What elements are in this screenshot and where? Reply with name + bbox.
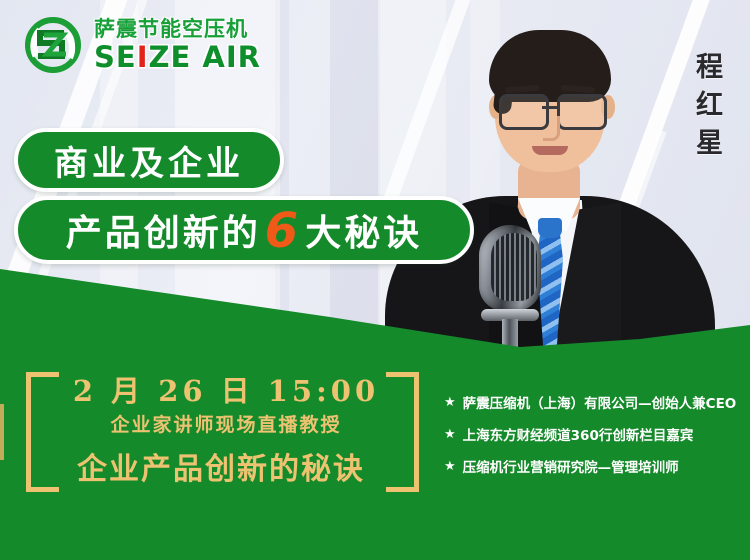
credential-item: ★ 上海东方财经频道360行创新栏目嘉宾 (444, 424, 744, 444)
brand-logo: 萨震节能空压机 SE I ZE AIR (22, 16, 261, 74)
speaker-nose (543, 116, 560, 141)
poster-canvas: 萨震节能空压机 SE I ZE AIR 程红星 商业及企业 产品创新的 6 大秘… (0, 0, 750, 560)
headline-line2-suffix: 大秘诀 (305, 204, 422, 256)
star-icon: ★ (444, 428, 456, 441)
eyeglasses-lens-left (499, 94, 549, 130)
credential-item: ★ 压缩机行业营销研究院—管理培训师 (444, 456, 744, 476)
microphone-grill (491, 233, 537, 301)
credential-item: ★ 萨震压缩机（上海）有限公司—创始人兼CEO (444, 392, 744, 412)
speaker-name-vertical: 程红星 (682, 52, 726, 166)
headline-line2-prefix: 产品创新的 (66, 204, 261, 256)
headline-number-six: 6 (261, 207, 305, 255)
credential-text: 上海东方财经频道360行创新栏目嘉宾 (463, 424, 694, 444)
event-datetime: 2 月 26 日 15:00 (66, 368, 386, 410)
brand-name-en-part2: ZE AIR (149, 43, 262, 72)
eyeglasses-bridge (542, 106, 558, 109)
speaker-mouth (532, 146, 568, 155)
brand-name-en-accent: I (137, 43, 149, 72)
credential-text: 萨震压缩机（上海）有限公司—创始人兼CEO (463, 392, 737, 412)
brand-name-cn: 萨震节能空压机 (94, 19, 261, 40)
microphone-head (479, 225, 541, 311)
event-subtitle: 企业家讲师现场直播教授 (66, 410, 386, 437)
headline-badge-line2: 产品创新的 6 大秘诀 (14, 196, 474, 264)
headline-badge-line1: 商业及企业 (14, 128, 284, 192)
star-icon: ★ (444, 460, 456, 473)
gold-accent-tick (0, 404, 4, 460)
event-topic: 企业产品创新的秘诀 (46, 444, 396, 488)
star-icon: ★ (444, 396, 456, 409)
credentials-list: ★ 萨震压缩机（上海）有限公司—创始人兼CEO ★ 上海东方财经频道360行创新… (444, 392, 744, 488)
brand-name-en-part1: SE (94, 43, 137, 72)
sz-monogram-logo-icon (22, 16, 84, 74)
credential-text: 压缩机行业营销研究院—管理培训师 (463, 456, 679, 476)
eyeglasses-lens-right (557, 94, 607, 130)
headline-line1-text: 商业及企业 (54, 136, 244, 185)
